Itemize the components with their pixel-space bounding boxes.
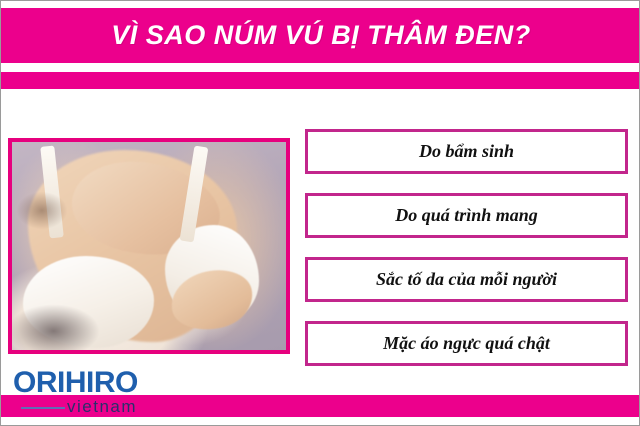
- illustration-photo: [8, 138, 290, 354]
- brand-logo-name: ORIHIRO: [13, 368, 138, 398]
- brand-logo-rule: [21, 407, 65, 409]
- photo-shadow-bottom-left: [8, 304, 100, 354]
- reason-box-3[interactable]: Sắc tố da của mỗi người: [305, 257, 628, 302]
- reason-box-2[interactable]: Do quá trình mang: [305, 193, 628, 238]
- photo-shadow-top-left: [17, 192, 66, 229]
- photo-background: [12, 142, 286, 350]
- brand-logo-subtitle: vietnam: [67, 398, 137, 415]
- brand-logo: ORIHIRO vietnam: [13, 368, 188, 418]
- page-title: VÌ SAO NÚM VÚ BỊ THÂM ĐEN?: [1, 8, 640, 63]
- infographic-canvas: VÌ SAO NÚM VÚ BỊ THÂM ĐEN? Do bẩm sinh D…: [0, 0, 640, 426]
- reason-box-4[interactable]: Mặc áo ngực quá chật: [305, 321, 628, 366]
- reason-box-1[interactable]: Do bẩm sinh: [305, 129, 628, 174]
- header-accent-stripe: [1, 72, 640, 89]
